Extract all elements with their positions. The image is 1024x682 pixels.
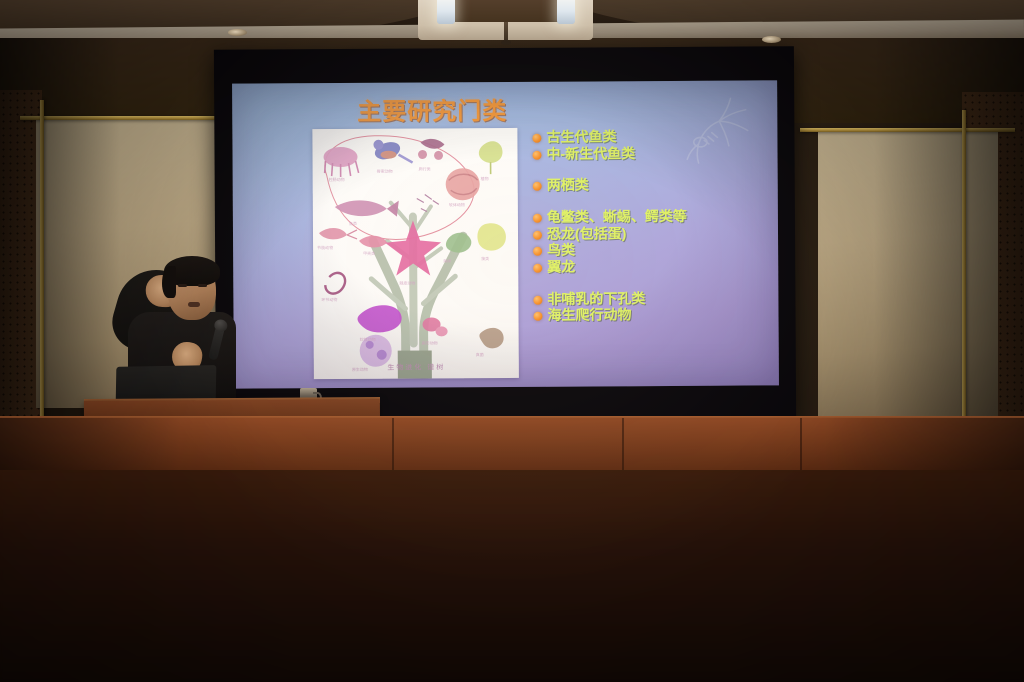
bullet-dot-icon	[533, 247, 542, 256]
bullet-dot-icon	[533, 182, 542, 191]
evolution-tree-figure: 腔肠动物 脊索动物 爬行类 植物 软体动物 鱼类 节肢动物 甲壳类 棘皮动物 海…	[312, 128, 519, 379]
svg-text:真菌: 真菌	[476, 351, 484, 357]
bullet-item: 非哺乳的下孔类	[533, 290, 768, 307]
presenter-mouth	[188, 302, 200, 307]
bullet-item: 古生代鱼类	[532, 128, 767, 145]
svg-text:植物: 植物	[481, 175, 489, 181]
bullet-item: 中-新生代鱼类	[532, 145, 767, 162]
bullet-label: 古生代鱼类	[546, 129, 616, 145]
bullet-dot-icon	[533, 295, 542, 304]
bullet-label: 鸟类	[547, 243, 575, 259]
slide-title: 主要研究门类	[357, 91, 507, 127]
presenter-eye-right	[198, 284, 207, 287]
bullet-label: 翼龙	[547, 260, 575, 276]
presentation-slide: 主要研究门类	[232, 80, 779, 388]
ceiling-beam	[455, 0, 561, 22]
bullet-group-spacer	[533, 162, 768, 178]
ceiling-light-panel-right	[557, 0, 575, 24]
bullet-label: 龟鳖类、蜥蜴、鳄类等	[547, 209, 687, 226]
bullet-label: 恐龙(包括蛋)	[547, 226, 626, 242]
bullet-dot-icon	[533, 230, 542, 239]
svg-text:棘皮动物: 棘皮动物	[399, 280, 415, 286]
svg-text:软体动物: 软体动物	[449, 201, 465, 207]
bullet-item: 翼龙	[533, 258, 768, 275]
bullet-dot-icon	[533, 312, 542, 321]
bullet-item: 龟鳖类、蜥蜴、鳄类等	[533, 208, 768, 225]
bullet-item: 鸟类	[533, 242, 768, 259]
projection-screen-frame: 主要研究门类	[214, 46, 796, 420]
svg-text:鱼类: 鱼类	[349, 220, 357, 226]
bullet-group-spacer	[533, 275, 768, 291]
svg-text:软体动物: 软体动物	[360, 336, 376, 342]
projection-screen-surface: 主要研究门类	[232, 80, 779, 388]
svg-text:扁形动物: 扁形动物	[422, 339, 438, 345]
tree-of-life-diagram: 腔肠动物 脊索动物 爬行类 植物 软体动物 鱼类 节肢动物 甲壳类 棘皮动物 海…	[312, 128, 519, 379]
bullet-label: 两栖类	[547, 178, 589, 194]
ceiling-light-panel-left	[437, 0, 455, 24]
wall-shadow-right	[874, 38, 1024, 438]
bullet-label: 中-新生代鱼类	[546, 146, 635, 162]
bullet-label: 非哺乳的下孔类	[547, 291, 645, 307]
svg-text:藻类: 藻类	[481, 255, 489, 261]
svg-text:脊索动物: 脊索动物	[377, 168, 393, 174]
svg-text:爬行类: 爬行类	[419, 165, 431, 171]
svg-text:环节动物: 环节动物	[321, 296, 337, 302]
svg-text:节肢动物: 节肢动物	[317, 244, 333, 250]
wall-shadow-left	[0, 38, 120, 438]
ceiling-spotlight-right	[762, 36, 781, 43]
presenter-eye-left	[178, 284, 187, 287]
bullet-dot-icon	[532, 134, 541, 143]
svg-text:腔肠动物: 腔肠动物	[329, 176, 345, 182]
bullet-label: 海生爬行动物	[547, 308, 631, 324]
bullet-dot-icon	[533, 264, 542, 273]
bullet-item: 海生爬行动物	[533, 307, 768, 324]
bullet-item: 恐龙(包括蛋)	[533, 225, 768, 242]
svg-text:甲壳类: 甲壳类	[363, 250, 375, 256]
bullet-dot-icon	[532, 150, 541, 159]
audience-area: NALS	[0, 470, 1024, 682]
presenter-hair-side	[162, 266, 176, 298]
lecture-hall-photo: 主要研究门类	[0, 0, 1024, 682]
ceiling-spotlight-left	[228, 29, 247, 36]
projector-mount-stem	[504, 22, 508, 42]
svg-text:海绵: 海绵	[443, 257, 451, 263]
bullet-item: 两栖类	[533, 177, 768, 194]
slide-bullet-list: 古生代鱼类 中-新生代鱼类 两栖类 龟鳖类、蜥蜴、鳄类等	[532, 128, 768, 324]
tree-figure-caption: 生物进化 谱树	[314, 362, 519, 373]
bullet-dot-icon	[533, 214, 542, 223]
